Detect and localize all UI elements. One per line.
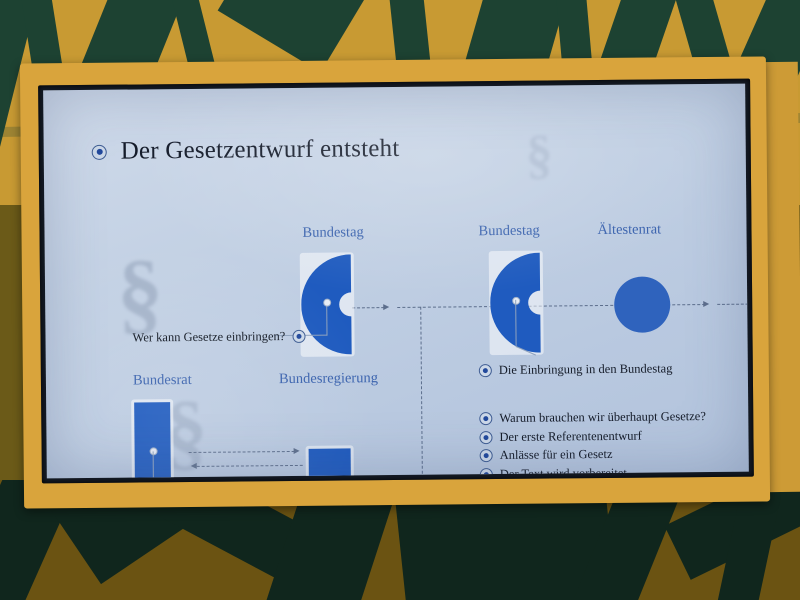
question-wer-kann-gesetze-einbringen: Wer kann Gesetze einbringen? [132, 329, 305, 346]
list-bullet-icon [480, 468, 493, 479]
list-item: Der erste Referentenentwurf [479, 428, 706, 445]
arrow-icon [191, 462, 197, 468]
arrow-icon [381, 476, 387, 479]
list-item-label: Der Text wird vorbereitet [500, 465, 627, 478]
arrow-icon [703, 300, 709, 306]
list-bullet-icon [479, 412, 492, 425]
title-bullet-icon [92, 144, 107, 159]
leader-anchor-dot [323, 299, 331, 307]
room-scene: § § § Der Gesetzentwurf entsteht [0, 0, 800, 600]
question-bullet-icon [292, 330, 305, 343]
connector-bundesrat-to-regierung [189, 451, 295, 453]
label-bundesregierung: Bundesregierung [279, 370, 378, 388]
paragraph-watermark-icon: § [525, 123, 553, 185]
list-item: Der Text wird vorbereitet [480, 465, 707, 479]
page-title: Der Gesetzentwurf entsteht [121, 135, 400, 166]
presentation-slide: § § § Der Gesetzentwurf entsteht [43, 84, 749, 479]
caption-text: Die Einbringung in den Bundestag [499, 361, 673, 378]
list-bullet-icon [479, 431, 492, 444]
arrow-icon [393, 475, 399, 478]
caption-bullet-icon [479, 364, 492, 377]
monitor-bezel: § § § Der Gesetzentwurf entsteht [38, 79, 754, 484]
aeltestenrat-shape-icon [614, 276, 671, 333]
list-item-label: Warum brauchen wir überhaupt Gesetze? [499, 409, 706, 426]
connector-offslide [717, 304, 749, 305]
arrow-icon [294, 447, 300, 453]
connector-riser [420, 307, 423, 479]
question-text: Wer kann Gesetze einbringen? [132, 329, 285, 345]
list-item: Warum brauchen wir überhaupt Gesetze? [479, 409, 706, 426]
list-item-label: Der erste Referentenentwurf [499, 428, 641, 444]
label-bundestag-1: Bundestag [302, 224, 363, 242]
slide-title-row: Der Gesetzentwurf entsteht [92, 135, 400, 166]
display-monitor: § § § Der Gesetzentwurf entsteht [20, 56, 770, 508]
label-aeltestenrat: Ältestenrat [597, 221, 661, 239]
list-bullet-icon [480, 449, 493, 462]
label-bundesrat: Bundesrat [133, 372, 192, 390]
arrow-icon [383, 304, 389, 310]
topic-bullet-list: Warum brauchen wir überhaupt Gesetze? De… [479, 409, 706, 478]
list-item: Anlässe für ein Gesetz [480, 446, 707, 463]
connector-bundestag1-out [352, 307, 384, 308]
connector-to-bundestag2 [397, 306, 497, 308]
caption-einbringung-bundestag: Die Einbringung in den Bundestag [479, 361, 673, 378]
connector-regierung-to-bundesrat [197, 465, 303, 467]
label-bundestag-2: Bundestag [478, 223, 539, 241]
list-item-label: Anlässe für ein Gesetz [500, 447, 613, 463]
bundesregierung-shape-icon [309, 448, 351, 478]
